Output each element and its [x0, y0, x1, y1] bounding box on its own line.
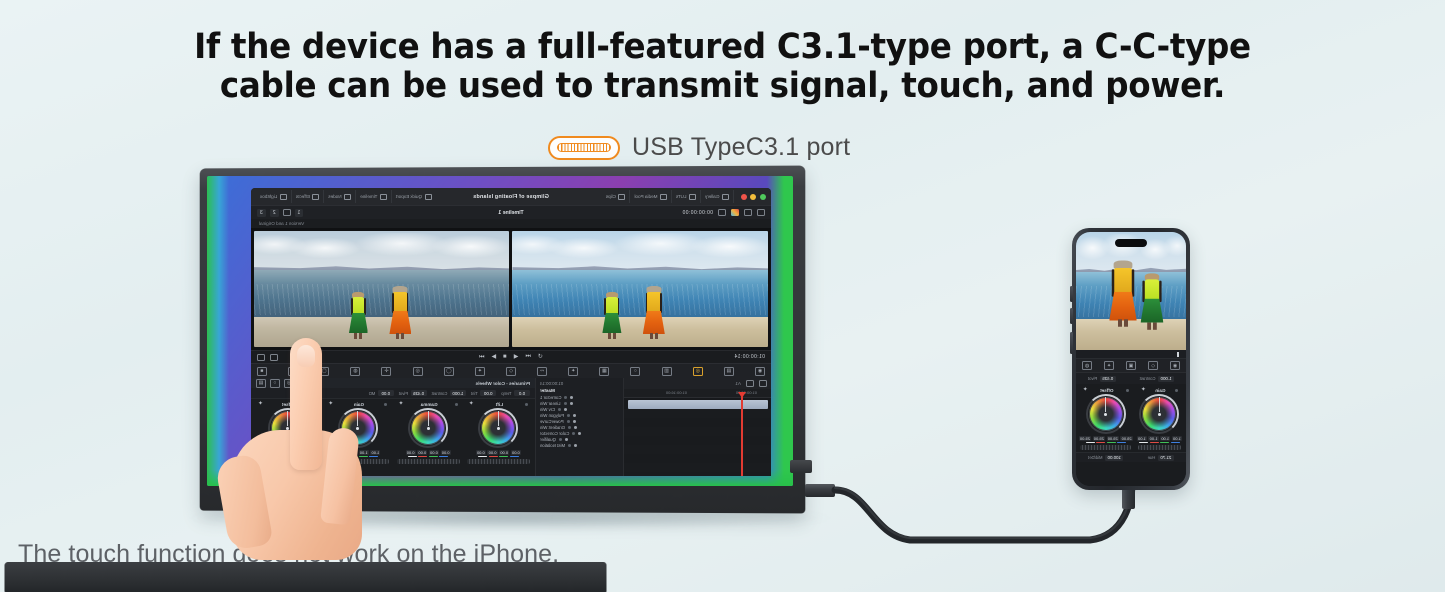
- wheel-value-b[interactable]: 0.00: [441, 450, 451, 455]
- phone-bottom-param-row: 21.70 Hue 100.00 Mid/Det: [1076, 452, 1186, 462]
- wheel-label-row: Gain ✦: [1137, 387, 1182, 394]
- param-pivot-value[interactable]: 0.435: [411, 390, 427, 396]
- wheel-label-row: Offset ✦: [1079, 387, 1133, 394]
- channel-bar-blue: [1171, 442, 1180, 443]
- node-link-dot[interactable]: [567, 414, 570, 417]
- timeline-panel-header: A1: [624, 378, 771, 389]
- qualifier-icon[interactable]: ✦: [475, 367, 485, 376]
- phone-video-preview[interactable]: [1076, 232, 1186, 350]
- wheel-channel-bars: [465, 456, 532, 457]
- menubar-item-media-pool[interactable]: Media Pool: [630, 190, 671, 203]
- node-link-dot[interactable]: [559, 438, 562, 441]
- phone-dynamic-island: [1115, 239, 1147, 247]
- child-figure-right: [1137, 269, 1166, 343]
- timeline-ruler-mark-2: 01:00:16:00: [666, 390, 687, 395]
- phone-scrubber-strip[interactable]: [1076, 350, 1186, 359]
- usb-c-port-icon: [548, 136, 620, 160]
- viewer-shore: [513, 317, 769, 347]
- sizing-icon[interactable]: ▣: [1126, 361, 1136, 370]
- touching-hand: [222, 338, 387, 560]
- timeline-icon: [380, 194, 387, 200]
- wheel-values: 25.00 25.00 25.00 25.00: [1079, 436, 1133, 441]
- node-enable-dot[interactable]: [571, 396, 574, 399]
- color-wheel-lift[interactable]: Lift ✦ 0.00 0.00: [465, 401, 532, 476]
- usb-port-callout: USB TypeC3.1 port: [548, 133, 850, 162]
- wheel-values: 0.00 0.00 0.00 0.00: [465, 450, 532, 455]
- wheel-label: Gamma: [404, 402, 455, 407]
- smartphone: ◉ ◇ ▣ ✦ ◍ 1.000 Contrast 0.435 Pivot: [1072, 228, 1190, 490]
- node-enable-dot[interactable]: [565, 438, 568, 441]
- menubar-label-luts: LUTs: [676, 194, 686, 199]
- wheel-auto-icon[interactable]: ✦: [1083, 387, 1088, 393]
- toolbar-chip-3[interactable]: 3: [257, 209, 266, 217]
- timeline-clip[interactable]: [628, 400, 768, 409]
- play-icon[interactable]: ▶: [492, 354, 497, 360]
- wheel-control[interactable]: [1139, 394, 1179, 434]
- node-enable-dot[interactable]: [574, 426, 577, 429]
- phone-scrubber-handle[interactable]: [1178, 352, 1180, 357]
- channel-bar-green: [1160, 442, 1169, 443]
- node-enable-dot[interactable]: [570, 402, 573, 405]
- color-wheels-icon[interactable]: ◎: [693, 367, 703, 376]
- menubar-item-lightbox[interactable]: Lightbox: [256, 190, 292, 203]
- child-torso: [1144, 279, 1160, 299]
- phone-color-page[interactable]: ◉ ◇ ▣ ✦ ◍ 1.000 Contrast 0.435 Pivot: [1076, 350, 1186, 486]
- app-toolbar: 00:00:00:00 Timeline 1 1 2 3: [251, 205, 771, 219]
- phone-volume-down-button[interactable]: [1070, 308, 1073, 324]
- child-braid-right: [1132, 269, 1134, 297]
- child-braid-right: [1159, 281, 1161, 303]
- reverse-play-icon[interactable]: ◀: [514, 354, 519, 360]
- wheel-label-row: Lift ✦: [465, 401, 532, 408]
- wheel-reset-dot[interactable]: [1175, 389, 1178, 392]
- color-warper-icon[interactable]: ◇: [506, 367, 516, 376]
- close-window-button[interactable]: [741, 194, 747, 200]
- channel-bar-green: [429, 456, 438, 457]
- wheel-reset-dot[interactable]: [455, 403, 458, 406]
- hand-index-finger: [290, 338, 322, 470]
- child-legs: [608, 333, 616, 339]
- phone-param-pivot[interactable]: 0.435 Pivot: [1088, 376, 1116, 382]
- channel-bar-red: [1096, 442, 1105, 443]
- phone-screen[interactable]: ◉ ◇ ▣ ✦ ◍ 1.000 Contrast 0.435 Pivot: [1076, 232, 1186, 486]
- wheel-value-y[interactable]: 1.00: [1137, 436, 1147, 441]
- phone-param-row: 1.000 Contrast 0.435 Pivot: [1076, 373, 1186, 384]
- quick-export-icon: [425, 194, 432, 200]
- menubar-label-gallery: Gallery: [705, 194, 720, 199]
- curves-icon[interactable]: ∾: [537, 367, 547, 376]
- param-pivot[interactable]: 0.435 Pivot: [399, 390, 427, 396]
- menubar-item-nodes[interactable]: Nodes: [324, 190, 356, 203]
- child-torso: [1113, 268, 1133, 293]
- menubar-label-clips: Clips: [606, 194, 616, 199]
- child-legs: [1147, 323, 1157, 330]
- timeline-panel[interactable]: A1 01:00:08:00 01:00:16:00: [623, 378, 771, 476]
- camera-raw-icon[interactable]: ◉: [755, 367, 765, 376]
- color-page-icon[interactable]: [731, 209, 739, 216]
- wheel-indicator-line: [428, 411, 429, 426]
- phone-param-contrast-value[interactable]: 1.000: [1158, 376, 1174, 382]
- wheel-channel-bars: [1137, 442, 1182, 443]
- wheel-master-slider[interactable]: [1138, 445, 1180, 450]
- motion-effects-icon[interactable]: ✦: [568, 367, 578, 376]
- wheel-control[interactable]: [408, 408, 448, 448]
- phone-param-hue-label: Hue: [1148, 455, 1156, 460]
- motion-effects-icon[interactable]: ✦: [1104, 361, 1114, 370]
- param-temp-label: Temp: [501, 391, 511, 396]
- page-headline: If the device has a full-featured C3.1-t…: [51, 28, 1395, 106]
- child-figure-right: [601, 288, 622, 340]
- channel-bar-green: [1107, 442, 1116, 443]
- project-title: Glimpse of Floating Islands: [473, 194, 549, 200]
- channel-bar-master: [1086, 442, 1095, 443]
- lightbox-icon: [280, 194, 287, 200]
- param-tint-label: Tint: [471, 391, 478, 396]
- phone-param-hue-value[interactable]: 21.70: [1158, 455, 1174, 461]
- param-temp-value[interactable]: 0.0: [514, 390, 530, 396]
- channel-bar-green: [499, 456, 508, 457]
- menubar-item-clips[interactable]: Clips: [602, 190, 631, 203]
- wheel-value-y[interactable]: 0.00: [476, 450, 486, 455]
- wheel-value-g[interactable]: 0.00: [499, 450, 509, 455]
- transport-controls: ↺ ⏮ ◀ ■ ▶ ⏭: [479, 354, 543, 360]
- phone-param-mid-det-label: Mid/Det: [1088, 455, 1102, 460]
- wheel-value-g[interactable]: 25.00: [1107, 436, 1119, 441]
- timeline-clips-icon[interactable]: [759, 380, 767, 387]
- clips-icon: [618, 194, 625, 200]
- viewer-clouds: [254, 233, 510, 263]
- wheel-master-slider[interactable]: [467, 459, 530, 464]
- menubar-label-quick-export: Quick Export: [396, 194, 422, 199]
- param-tint-value[interactable]: 0.00: [480, 390, 496, 396]
- wheel-control[interactable]: [478, 408, 518, 448]
- menubar-label-timeline: Timeline: [360, 194, 377, 199]
- wheel-value-y[interactable]: 0.00: [406, 450, 416, 455]
- node-item-label: Gradient Win: [540, 425, 565, 430]
- channel-bar-blue: [510, 456, 519, 457]
- wheel-master-slider[interactable]: [1080, 445, 1131, 450]
- wheel-reset-dot[interactable]: [1126, 389, 1129, 392]
- child-figure-right: [348, 288, 369, 340]
- timeline-name[interactable]: Timeline 1: [498, 210, 523, 216]
- headline-line-1: If the device has a full-featured C3.1-t…: [194, 27, 1251, 67]
- node-link-dot[interactable]: [565, 396, 568, 399]
- wheel-center-handle[interactable]: [497, 427, 500, 430]
- log-wheels-icon[interactable]: ○: [631, 367, 641, 376]
- child-braid-right: [604, 298, 606, 315]
- node-item-label: Corrector 1: [540, 395, 562, 400]
- child-braid-left: [364, 298, 366, 315]
- child-skirt: [602, 313, 621, 333]
- wheel-channel-bars: [395, 456, 462, 457]
- app-menubar: Gallery LUTs Media Pool Clips Glimpse of…: [251, 188, 771, 205]
- wheel-value-b[interactable]: 0.00: [511, 450, 521, 455]
- wheel-value-r[interactable]: 0.00: [487, 450, 497, 455]
- node-panel-timecode: 01:00:00:14: [536, 380, 623, 387]
- wheel-value-y[interactable]: 25.00: [1079, 436, 1091, 441]
- color-warper-icon[interactable]: ◇: [1148, 361, 1158, 370]
- wheel-auto-icon[interactable]: ✦: [469, 401, 474, 407]
- camera-raw-icon[interactable]: ◉: [1170, 361, 1180, 370]
- node-link-dot[interactable]: [568, 426, 571, 429]
- node-list-item[interactable]: Mist Isolation: [536, 442, 623, 448]
- fingernail: [297, 345, 315, 367]
- node-master-label: Master: [536, 387, 623, 394]
- node-item-label: Polygon Win: [540, 413, 564, 418]
- child-figure-left: [388, 286, 412, 340]
- node-link-dot[interactable]: [567, 420, 570, 423]
- phone-color-wheels-row: Gain ✦ 1.00 1.00 1.00 1.00: [1076, 384, 1186, 450]
- node-item-label: Color Corrector: [540, 431, 569, 436]
- child-torso: [352, 297, 365, 314]
- wheel-value-g[interactable]: 1.00: [1160, 436, 1170, 441]
- transport-timecode[interactable]: 01:00:00:14: [734, 354, 765, 360]
- node-enable-dot[interactable]: [578, 432, 581, 435]
- viewer-area: [251, 228, 771, 350]
- power-windows-icon[interactable]: ◯: [444, 367, 454, 376]
- timeline-viewer[interactable]: [254, 231, 510, 347]
- param-temp[interactable]: 0.0 Temp: [501, 390, 530, 396]
- usb-c-port-icon-pins: [557, 143, 611, 152]
- wheel-indicator-line: [1105, 397, 1106, 412]
- node-enable-dot[interactable]: [573, 420, 576, 423]
- wheel-value-b[interactable]: 25.00: [1120, 436, 1132, 441]
- channel-bar-master: [478, 456, 487, 457]
- phone-color-wheel-gain[interactable]: Gain ✦ 1.00 1.00 1.00 1.00: [1137, 387, 1182, 450]
- wheel-auto-icon[interactable]: ✦: [1141, 387, 1146, 393]
- color-match-icon[interactable]: ▤: [724, 367, 734, 376]
- wheel-control[interactable]: [1086, 394, 1126, 434]
- window-controls[interactable]: [741, 194, 766, 200]
- node-item-label: Qualifier: [540, 437, 556, 442]
- effects-icon: [312, 194, 319, 200]
- child-skirt: [643, 311, 665, 334]
- usb-port-label: USB TypeC3.1 port: [632, 133, 850, 162]
- wheel-auto-icon[interactable]: ✦: [399, 401, 404, 407]
- phone-param-hue[interactable]: 21.70 Hue: [1148, 455, 1174, 461]
- minimize-window-button[interactable]: [751, 194, 757, 200]
- param-contrast-label: Contrast: [432, 391, 448, 396]
- wheel-indicator-line: [498, 411, 499, 426]
- viewer-clouds: [513, 233, 769, 263]
- blur-icon[interactable]: ◍: [1082, 361, 1092, 370]
- param-tint[interactable]: 0.00 Tint: [471, 390, 496, 396]
- child-skirt: [349, 313, 368, 333]
- color-panel-title: Primaries - Color Wheels: [476, 381, 530, 386]
- timeline-track-label: A1: [735, 381, 741, 386]
- wheel-values: 1.00 1.00 1.00 1.00: [1137, 436, 1182, 441]
- menubar-item-gallery[interactable]: Gallery: [701, 190, 734, 203]
- menubar-label-lightbox: Lightbox: [260, 194, 277, 199]
- phone-param-mid-det-value[interactable]: 100.00: [1105, 455, 1123, 461]
- menubar-label-nodes: Nodes: [328, 194, 341, 199]
- wheel-center-handle[interactable]: [427, 427, 430, 430]
- node-enable-dot[interactable]: [573, 414, 576, 417]
- prev-clip-icon[interactable]: ⏮: [525, 354, 530, 360]
- node-enable-dot[interactable]: [564, 408, 567, 411]
- wheel-value-r[interactable]: 0.00: [417, 450, 427, 455]
- wheel-value-g[interactable]: 0.00: [429, 450, 439, 455]
- param-contrast-value[interactable]: 1.000: [450, 390, 466, 396]
- channel-bar-blue: [1117, 442, 1126, 443]
- phone-volume-up-button[interactable]: [1070, 286, 1073, 302]
- wheel-center-handle[interactable]: [1158, 413, 1161, 416]
- node-link-dot[interactable]: [564, 402, 567, 405]
- node-link-dot[interactable]: [572, 432, 575, 435]
- node-item-label: Linear Win: [540, 401, 561, 406]
- wheel-label-row: Gamma ✦: [395, 401, 462, 408]
- menubar-item-effects[interactable]: Effects: [292, 190, 324, 203]
- viewer-layout-icon[interactable]: [283, 209, 291, 216]
- phone-color-wheel-offset[interactable]: Offset ✦ 25.00 25.00 25.00 25.00: [1079, 387, 1133, 450]
- menubar-item-quick-export[interactable]: Quick Export: [392, 190, 436, 203]
- child-braid-right: [351, 298, 353, 315]
- gallery-icon: [722, 194, 729, 200]
- node-link-dot[interactable]: [558, 408, 561, 411]
- nodes-icon: [344, 194, 351, 200]
- phone-color-toolbar: ◉ ◇ ▣ ✦ ◍: [1076, 359, 1186, 373]
- child-figure-left: [642, 286, 666, 340]
- next-clip-icon[interactable]: ⏭: [479, 354, 484, 360]
- timeline-ruler[interactable]: 01:00:08:00 01:00:16:00: [624, 389, 771, 398]
- timeline-tracks[interactable]: [624, 409, 771, 476]
- color-wheel-gamma[interactable]: Gamma ✦ 0.00 0.00: [395, 401, 462, 476]
- zoom-window-button[interactable]: [760, 194, 766, 200]
- media-pool-icon: [660, 194, 667, 200]
- timeline-thumbs-icon[interactable]: [746, 380, 754, 387]
- version-row: Version 1 and Original: [251, 219, 771, 228]
- phone-param-pivot-value[interactable]: 0.435: [1100, 376, 1116, 382]
- wheel-value-r[interactable]: 1.00: [1148, 436, 1158, 441]
- luts-icon: [689, 194, 696, 200]
- channel-bar-red: [1150, 442, 1159, 443]
- monitor-output-icon[interactable]: [718, 209, 726, 216]
- param-pivot-label: Pivot: [399, 391, 408, 396]
- child-legs: [1118, 319, 1128, 327]
- version-label[interactable]: Version 1 and Original: [259, 221, 304, 226]
- toolbar-right-group: 1 2 3: [257, 209, 303, 217]
- source-viewer[interactable]: [513, 231, 769, 347]
- child-torso: [605, 297, 618, 314]
- wheel-value-b[interactable]: 1.00: [1172, 436, 1182, 441]
- channel-bar-red: [489, 456, 498, 457]
- wheel-label: Offset: [1088, 388, 1126, 393]
- child-braid-left: [660, 293, 662, 313]
- child-braid-left: [1142, 281, 1144, 303]
- param-contrast[interactable]: 1.000 Contrast: [432, 390, 466, 396]
- rgb-mixer-icon[interactable]: ▦: [599, 367, 609, 376]
- toolbar-chip-1[interactable]: 1: [295, 209, 304, 217]
- phone-param-contrast[interactable]: 1.000 Contrast: [1140, 376, 1174, 382]
- node-item-label: Mist Isolation: [540, 443, 565, 448]
- stop-icon[interactable]: ■: [503, 354, 507, 360]
- menubar-item-luts[interactable]: LUTs: [672, 190, 701, 203]
- wheel-center-handle[interactable]: [1104, 413, 1107, 416]
- timeline-playhead[interactable]: [742, 396, 744, 476]
- primaries-bars-icon[interactable]: ▥: [662, 367, 672, 376]
- phone-param-contrast-label: Contrast: [1140, 376, 1156, 381]
- phone-param-mid-det[interactable]: 100.00 Mid/Det: [1088, 455, 1123, 461]
- wheel-channel-bars: [1079, 442, 1133, 443]
- wheel-indicator-line: [1159, 397, 1160, 412]
- wheel-label: Gain: [1146, 388, 1175, 393]
- wheel-value-r[interactable]: 25.00: [1093, 436, 1105, 441]
- node-layer-panel[interactable]: 01:00:00:14 Master Corrector 1 Linear Wi…: [535, 378, 623, 476]
- child-figure-left: [1106, 260, 1141, 343]
- toolbar-timecode[interactable]: 00:00:00:00: [682, 210, 713, 216]
- loop-icon[interactable]: ↺: [538, 354, 543, 360]
- viewer-water-ripples: [513, 284, 769, 314]
- channel-bar-master: [408, 456, 417, 457]
- wheel-reset-dot[interactable]: [525, 403, 528, 406]
- phone-param-pivot-label: Pivot: [1088, 376, 1097, 381]
- viewer-water-ripples: [254, 284, 510, 314]
- node-enable-dot[interactable]: [574, 444, 577, 447]
- child-legs: [650, 333, 658, 339]
- menubar-label-media-pool: Media Pool: [634, 194, 657, 199]
- channel-bar-blue: [439, 456, 448, 457]
- child-braid-left: [618, 298, 620, 315]
- headline-line-2: cable can be used to transmit signal, to…: [51, 67, 1395, 106]
- child-skirt: [389, 311, 411, 334]
- toolbar-chip-2[interactable]: 2: [270, 209, 279, 217]
- fullscreen-icon[interactable]: [744, 209, 752, 216]
- child-braid-right: [392, 293, 394, 313]
- wheel-master-slider[interactable]: [397, 459, 460, 464]
- node-link-dot[interactable]: [568, 444, 571, 447]
- channel-bar-master: [1139, 442, 1148, 443]
- node-item-label: PowerCurve: [540, 419, 564, 424]
- child-braid-left: [1112, 269, 1114, 297]
- node-item-label: Crv Win: [540, 407, 555, 412]
- menubar-item-timeline[interactable]: Timeline: [356, 190, 392, 203]
- more-options-icon[interactable]: [757, 209, 765, 216]
- phone-power-button[interactable]: [1070, 332, 1073, 354]
- channel-bar-red: [418, 456, 427, 457]
- menubar-label-effects: Effects: [296, 194, 310, 199]
- child-legs: [396, 333, 404, 339]
- wheel-label: Lift: [474, 402, 525, 407]
- tracker-icon[interactable]: ◎: [413, 367, 423, 376]
- wheel-values: 0.00 0.00 0.00 0.00: [395, 450, 462, 455]
